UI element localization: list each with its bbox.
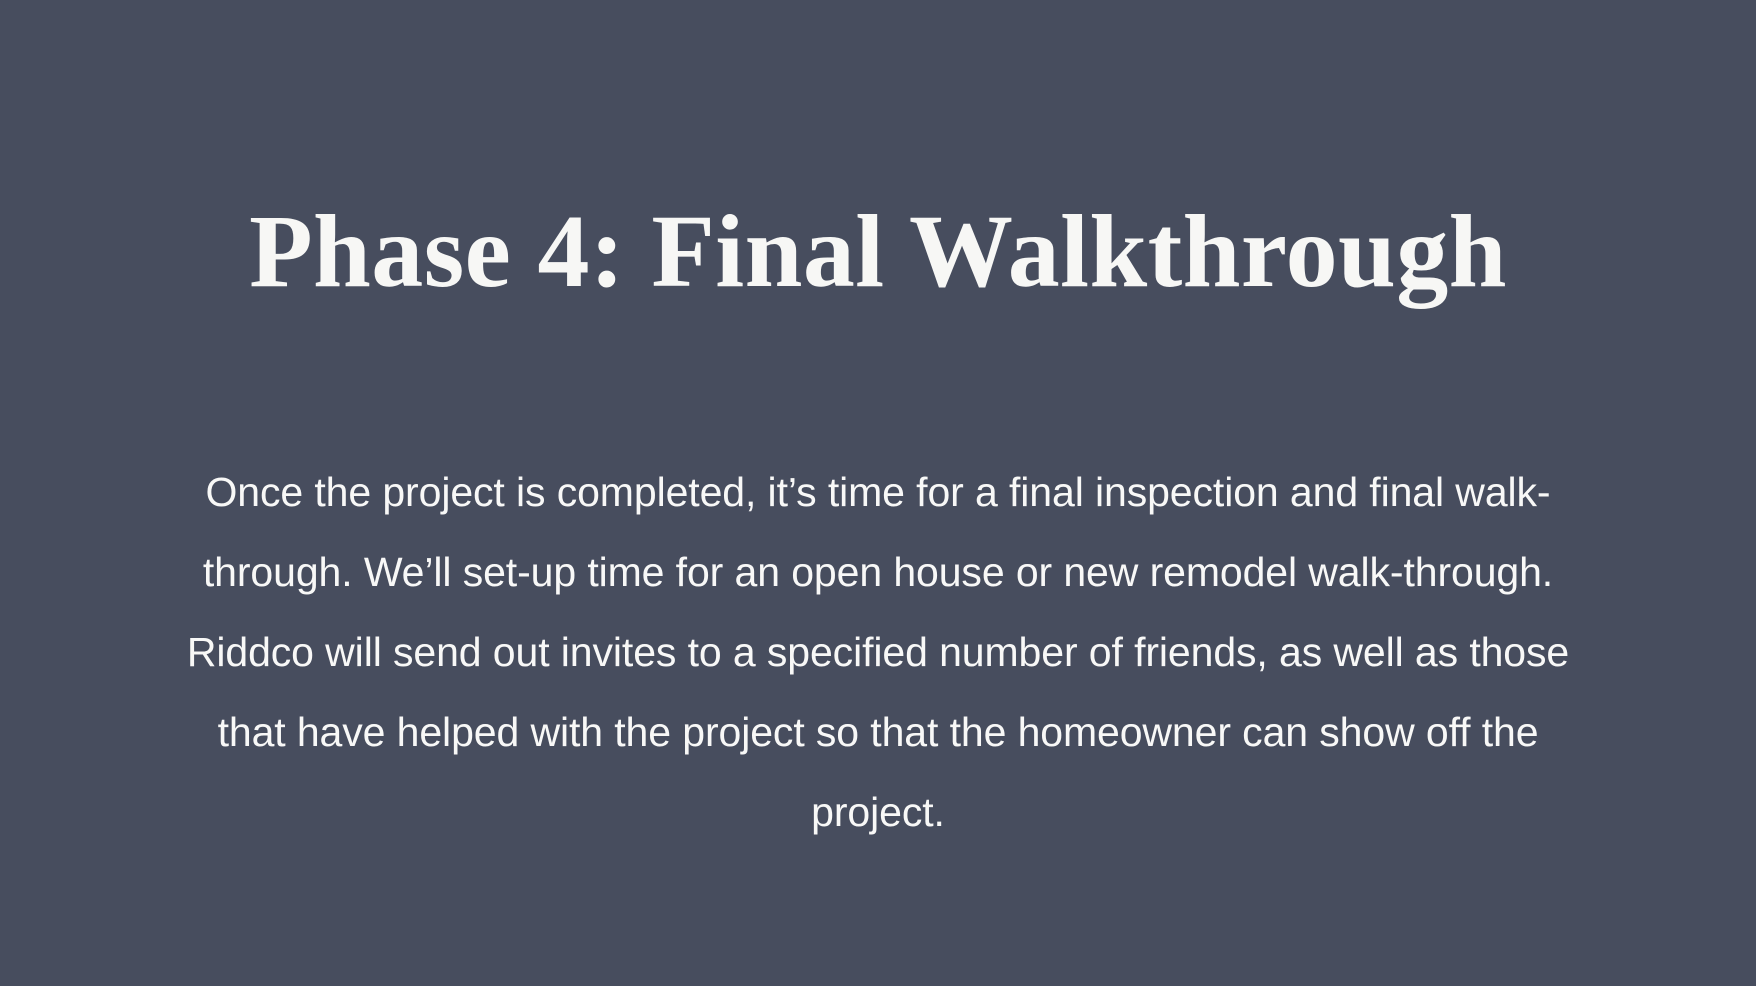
presentation-slide: Phase 4: Final Walkthrough Once the proj… (0, 0, 1756, 986)
slide-body-text: Once the project is completed, it’s time… (176, 452, 1580, 852)
body-paragraph: Once the project is completed, it’s time… (176, 452, 1580, 852)
page-title: Phase 4: Final Walkthrough (0, 196, 1756, 308)
